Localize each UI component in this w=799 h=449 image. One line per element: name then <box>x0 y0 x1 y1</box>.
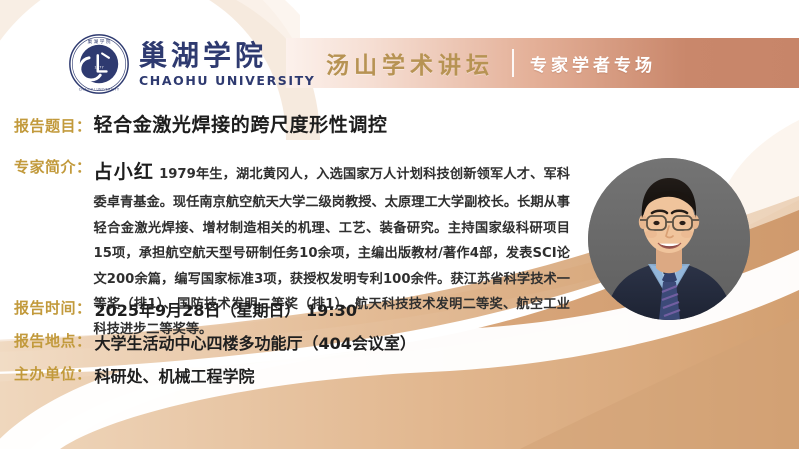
university-seal-icon: 1977 巢 湖 学 院 CHAOHU UNIVERSITY <box>68 33 130 95</box>
svg-text:CHAOHU UNIVERSITY: CHAOHU UNIVERSITY <box>79 88 120 92</box>
report-place-row: 报告地点： 大学生活动中心四楼多功能厅（404会议室） <box>14 330 416 354</box>
svg-text:1977: 1977 <box>94 65 104 69</box>
organizer-value: 科研处、机械工程学院 <box>95 363 255 387</box>
speaker-bio-label: 专家简介： <box>14 154 92 177</box>
banner-separator-icon <box>512 49 514 77</box>
university-logo: 1977 巢 湖 学 院 CHAOHU UNIVERSITY 巢湖学院 CHAO… <box>68 33 315 95</box>
speaker-portrait <box>588 158 750 320</box>
report-place-value: 大学生活动中心四楼多功能厅（404会议室） <box>95 330 416 354</box>
organizer-label: 主办单位： <box>14 363 92 384</box>
speaker-name: 占小红 <box>94 161 155 183</box>
banner-title: 汤山学术讲坛 <box>326 46 494 80</box>
organizer-row: 主办单位： 科研处、机械工程学院 <box>14 363 255 387</box>
logo-chinese-name: 巢湖学院 <box>139 40 315 71</box>
report-time-row: 报告时间： 2025年9月28日（星期日） 19:30 <box>14 297 357 321</box>
report-title-row: 报告题目： 轻合金激光焊接的跨尺度形性调控 <box>14 110 388 137</box>
lecture-banner: 汤山学术讲坛 专家学者专场 <box>286 38 799 88</box>
poster-canvas: 汤山学术讲坛 专家学者专场 1977 巢 湖 学 院 CHAOHU UNIVER… <box>0 0 799 449</box>
poster-header: 汤山学术讲坛 专家学者专场 1977 巢 湖 学 院 CHAOHU UNIVER… <box>0 0 799 105</box>
report-time-label: 报告时间： <box>14 297 92 318</box>
logo-wordmark: 巢湖学院 CHAOHU UNIVERSITY <box>139 40 315 88</box>
report-time-value: 2025年9月28日（星期日） 19:30 <box>95 297 357 321</box>
speaker-portrait-image <box>588 158 750 320</box>
report-place-label: 报告地点： <box>14 330 92 351</box>
logo-english-name: CHAOHU UNIVERSITY <box>139 73 315 88</box>
report-title-value: 轻合金激光焊接的跨尺度形性调控 <box>94 110 388 137</box>
report-title-label: 报告题目： <box>14 115 92 136</box>
banner-subtitle: 专家学者专场 <box>530 51 656 76</box>
